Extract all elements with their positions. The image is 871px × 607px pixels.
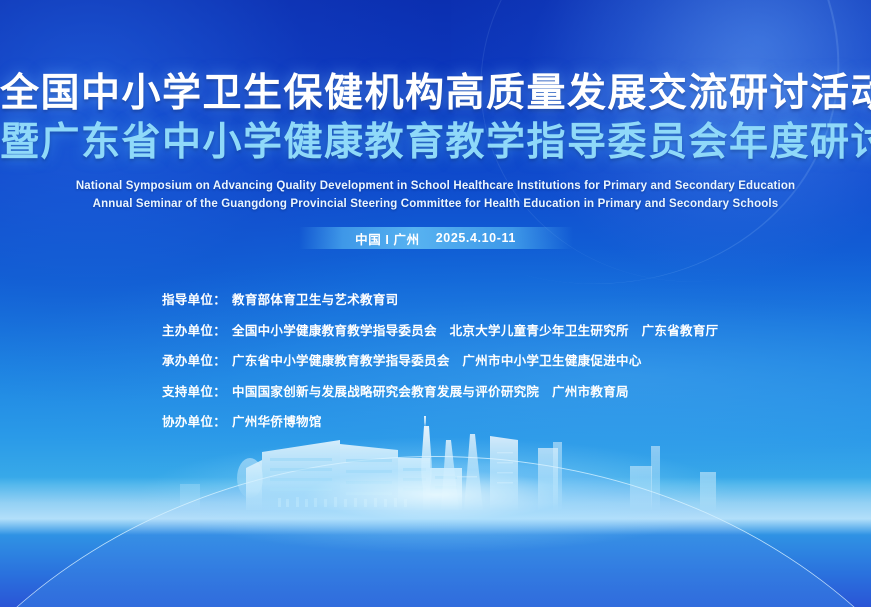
subtitle-line-2: Annual Seminar of the Guangdong Provinci… <box>0 196 871 214</box>
poster-headline: 全国中小学卫生保健机构高质量发展交流研讨活动 暨广东省中小学健康教育教学指导委员… <box>0 74 871 164</box>
organizer-value: 教育部体育卫生与艺术教育司 <box>232 289 398 308</box>
organizer-label: 主办单位： <box>162 320 226 339</box>
venue-date-badge: 中国 I 广州 2025.4.10-11 <box>299 227 573 249</box>
venue-date: 2025.4.10-11 <box>436 231 516 245</box>
poster-subtitle: National Symposium on Advancing Quality … <box>0 178 871 214</box>
organizer-label: 支持单位： <box>162 381 226 400</box>
organizer-value: 中国国家创新与发展战略研究会教育发展与评价研究院 广州市教育局 <box>232 381 629 400</box>
organizer-label: 承办单位： <box>162 350 226 369</box>
organizer-row: 指导单位： 教育部体育卫生与艺术教育司 <box>162 289 802 308</box>
organizer-label: 协办单位： <box>162 411 226 430</box>
conference-poster: 全国中小学卫生保健机构高质量发展交流研讨活动 暨广东省中小学健康教育教学指导委员… <box>0 0 871 607</box>
organizer-value: 广东省中小学健康教育教学指导委员会 广州市中小学卫生健康促进中心 <box>232 350 642 369</box>
organizer-row: 承办单位： 广东省中小学健康教育教学指导委员会 广州市中小学卫生健康促进中心 <box>162 350 802 369</box>
organizer-label: 指导单位： <box>162 289 226 308</box>
light-arc-outer <box>271 0 871 338</box>
organizer-value: 广州华侨博物馆 <box>232 411 322 430</box>
organizer-value: 全国中小学健康教育教学指导委员会 北京大学儿童青少年卫生研究所 广东省教育厅 <box>232 320 718 339</box>
organizer-row: 协办单位： 广州华侨博物馆 <box>162 411 802 430</box>
page-title-primary: 全国中小学卫生保健机构高质量发展交流研讨活动 <box>0 74 871 115</box>
organizer-list: 指导单位： 教育部体育卫生与艺术教育司 主办单位： 全国中小学健康教育教学指导委… <box>162 289 802 442</box>
venue-location: 中国 I 广州 <box>355 229 420 248</box>
page-title-secondary: 暨广东省中小学健康教育教学指导委员会年度研讨活动 <box>0 123 871 164</box>
subtitle-line-1: National Symposium on Advancing Quality … <box>0 178 871 196</box>
organizer-row: 支持单位： 中国国家创新与发展战略研究会教育发展与评价研究院 广州市教育局 <box>162 381 802 400</box>
organizer-row: 主办单位： 全国中小学健康教育教学指导委员会 北京大学儿童青少年卫生研究所 广东… <box>162 320 802 339</box>
